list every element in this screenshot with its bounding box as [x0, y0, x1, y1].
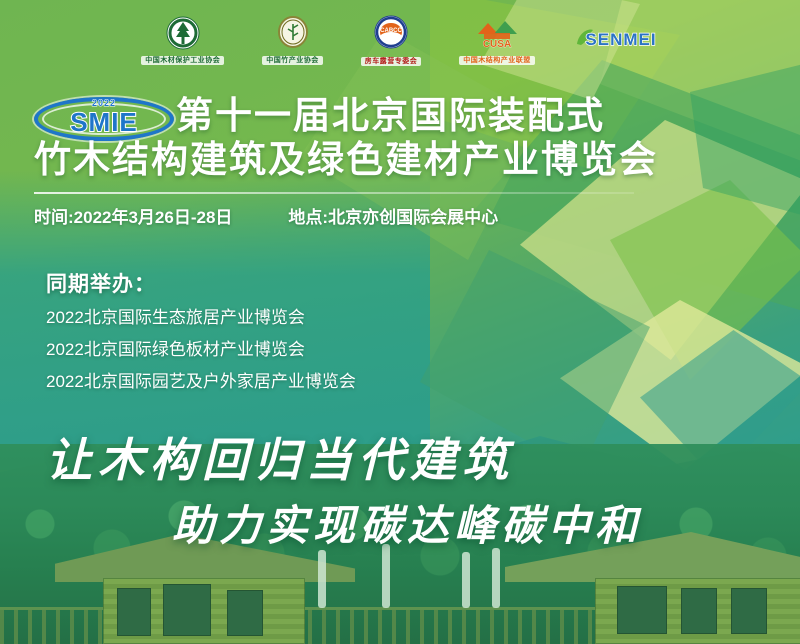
tree-in-circle-icon	[166, 16, 200, 55]
logo-label: 中国木结构产业联盟	[459, 56, 535, 65]
bamboo-seal-icon	[276, 16, 310, 55]
svg-text:SENMEI: SENMEI	[585, 30, 656, 49]
event-venue: 地点:北京亦创国际会展中心	[288, 203, 498, 228]
house-cusa-icon: CUSA	[474, 16, 520, 55]
exhibition-poster: 中国木材保护工业协会 中国竹产业协会 CABCC	[0, 0, 800, 644]
logo-label: 中国竹产业协会	[262, 56, 323, 65]
list-item: 2022北京国际园艺及户外家居产业博览会	[46, 366, 566, 398]
cusa-logo: CUSA 中国木结构产业联盟	[459, 16, 535, 65]
smie-acronym: SMIE	[34, 109, 174, 135]
logo-label: 中国木材保护工业协会	[141, 56, 224, 65]
slogan-line2: 助力实现碳达峰碳中和	[172, 492, 642, 553]
list-item: 2022北京国际生态旅居产业博览会	[46, 302, 566, 334]
slogan-line1: 让木构回归当代建筑	[46, 424, 514, 490]
event-date: 时间:2022年3月26日-28日	[34, 203, 232, 228]
bamboo-association-logo: 中国竹产业协会	[262, 16, 323, 65]
concurrent-events-heading: 同期举办：	[46, 268, 156, 298]
logo-label: 房车露营专委会	[361, 57, 422, 66]
svg-text:CUSA: CUSA	[483, 39, 511, 50]
page-title-line1: 第十一届北京国际装配式	[176, 96, 786, 137]
cabcc-badge-icon: CABCC	[373, 15, 409, 56]
china-wood-protection-association-logo: 中国木材保护工业协会	[141, 16, 224, 65]
event-meta: 时间:2022年3月26日-28日 地点:北京亦创国际会展中心	[34, 203, 674, 228]
senmei-logo: SENMEI	[573, 24, 659, 57]
concurrent-events-list: 2022北京国际生态旅居产业博览会 2022北京国际绿色板材产业博览会 2022…	[46, 302, 566, 398]
organizer-logos-row: 中国木材保护工业协会 中国竹产业协会 CABCC	[0, 6, 800, 74]
title-divider	[34, 192, 634, 194]
list-item: 2022北京国际绿色板材产业博览会	[46, 334, 566, 366]
page-title-line2: 竹木结构建筑及绿色建材产业博览会	[34, 140, 786, 181]
cabcc-logo: CABCC 房车露营专委会	[361, 15, 422, 66]
senmei-leaf-icon: SENMEI	[573, 24, 659, 57]
svg-text:CABCC: CABCC	[380, 28, 402, 34]
